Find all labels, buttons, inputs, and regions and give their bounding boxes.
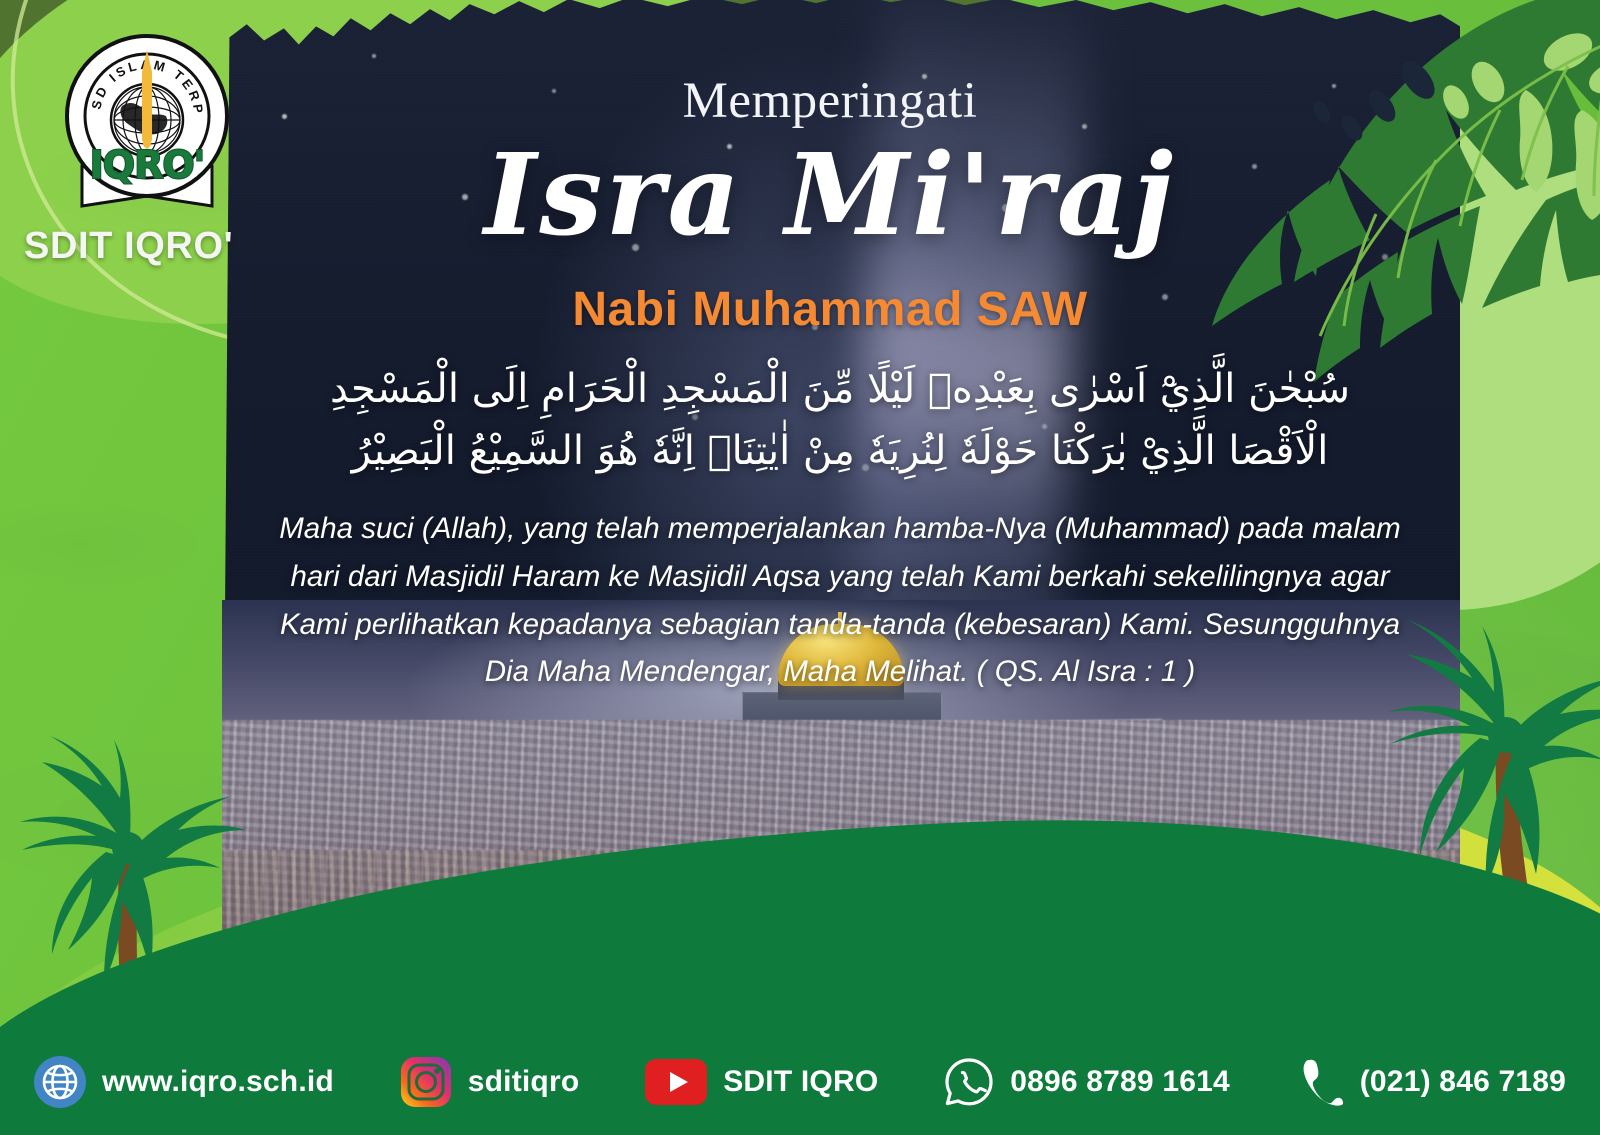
footer-whatsapp-label: 0896 8789 1614 bbox=[1010, 1065, 1230, 1099]
footer-item-phone[interactable]: (021) 846 7189 bbox=[1296, 1056, 1566, 1108]
globe-icon bbox=[34, 1056, 86, 1108]
page-subtitle: Nabi Muhammad SAW bbox=[0, 282, 1600, 337]
poster-canvas: SD ISLAM TERPADU IQRO' SDIT IQRO' Memper… bbox=[0, 0, 1600, 1135]
footer-item-whatsapp[interactable]: 0896 8789 1614 bbox=[944, 1057, 1230, 1107]
whatsapp-icon bbox=[944, 1057, 994, 1107]
footer-youtube-label: SDIT IQRO bbox=[723, 1065, 878, 1099]
quran-arabic-verse: سُبْحٰنَ الَّذِيْٓ اَسْرٰى بِعَبْدِهٖ لَ… bbox=[230, 358, 1450, 482]
star bbox=[372, 54, 376, 58]
page-title: Isra Mi'raj bbox=[0, 130, 1600, 261]
translation-line-1: Maha suci (Allah), yang telah memperjala… bbox=[240, 505, 1440, 553]
translation-line-3: Kami perlihatkan kepadanya sebagian tand… bbox=[240, 601, 1440, 649]
footer-phone-label: (021) 846 7189 bbox=[1360, 1065, 1566, 1099]
youtube-icon bbox=[645, 1059, 707, 1105]
translation-line-2: hari dari Masjidil Haram ke Masjidil Aqs… bbox=[240, 553, 1440, 601]
footer-website-label: www.iqro.sch.id bbox=[102, 1065, 334, 1099]
footer-item-youtube[interactable]: SDIT IQRO bbox=[645, 1059, 878, 1105]
footer-item-website[interactable]: www.iqro.sch.id bbox=[34, 1056, 334, 1108]
phone-icon bbox=[1296, 1056, 1344, 1108]
arabic-line-1: سُبْحٰنَ الَّذِيْٓ اَسْرٰى بِعَبْدِهٖ لَ… bbox=[230, 358, 1450, 420]
footer-contact-row: www.iqro.sch.id sditiqro bbox=[0, 1029, 1600, 1135]
kicker-text: Memperingati bbox=[0, 72, 1600, 130]
quran-translation: Maha suci (Allah), yang telah memperjala… bbox=[240, 505, 1440, 696]
footer-item-instagram[interactable]: sditiqro bbox=[400, 1056, 580, 1108]
footer-instagram-label: sditiqro bbox=[468, 1065, 580, 1099]
arabic-line-2: الْاَقْصَا الَّذِيْ بٰرَكْنَا حَوْلَهٗ ل… bbox=[230, 420, 1450, 482]
instagram-icon bbox=[400, 1056, 452, 1108]
translation-line-4: Dia Maha Mendengar, Maha Melihat. ( QS. … bbox=[240, 648, 1440, 696]
